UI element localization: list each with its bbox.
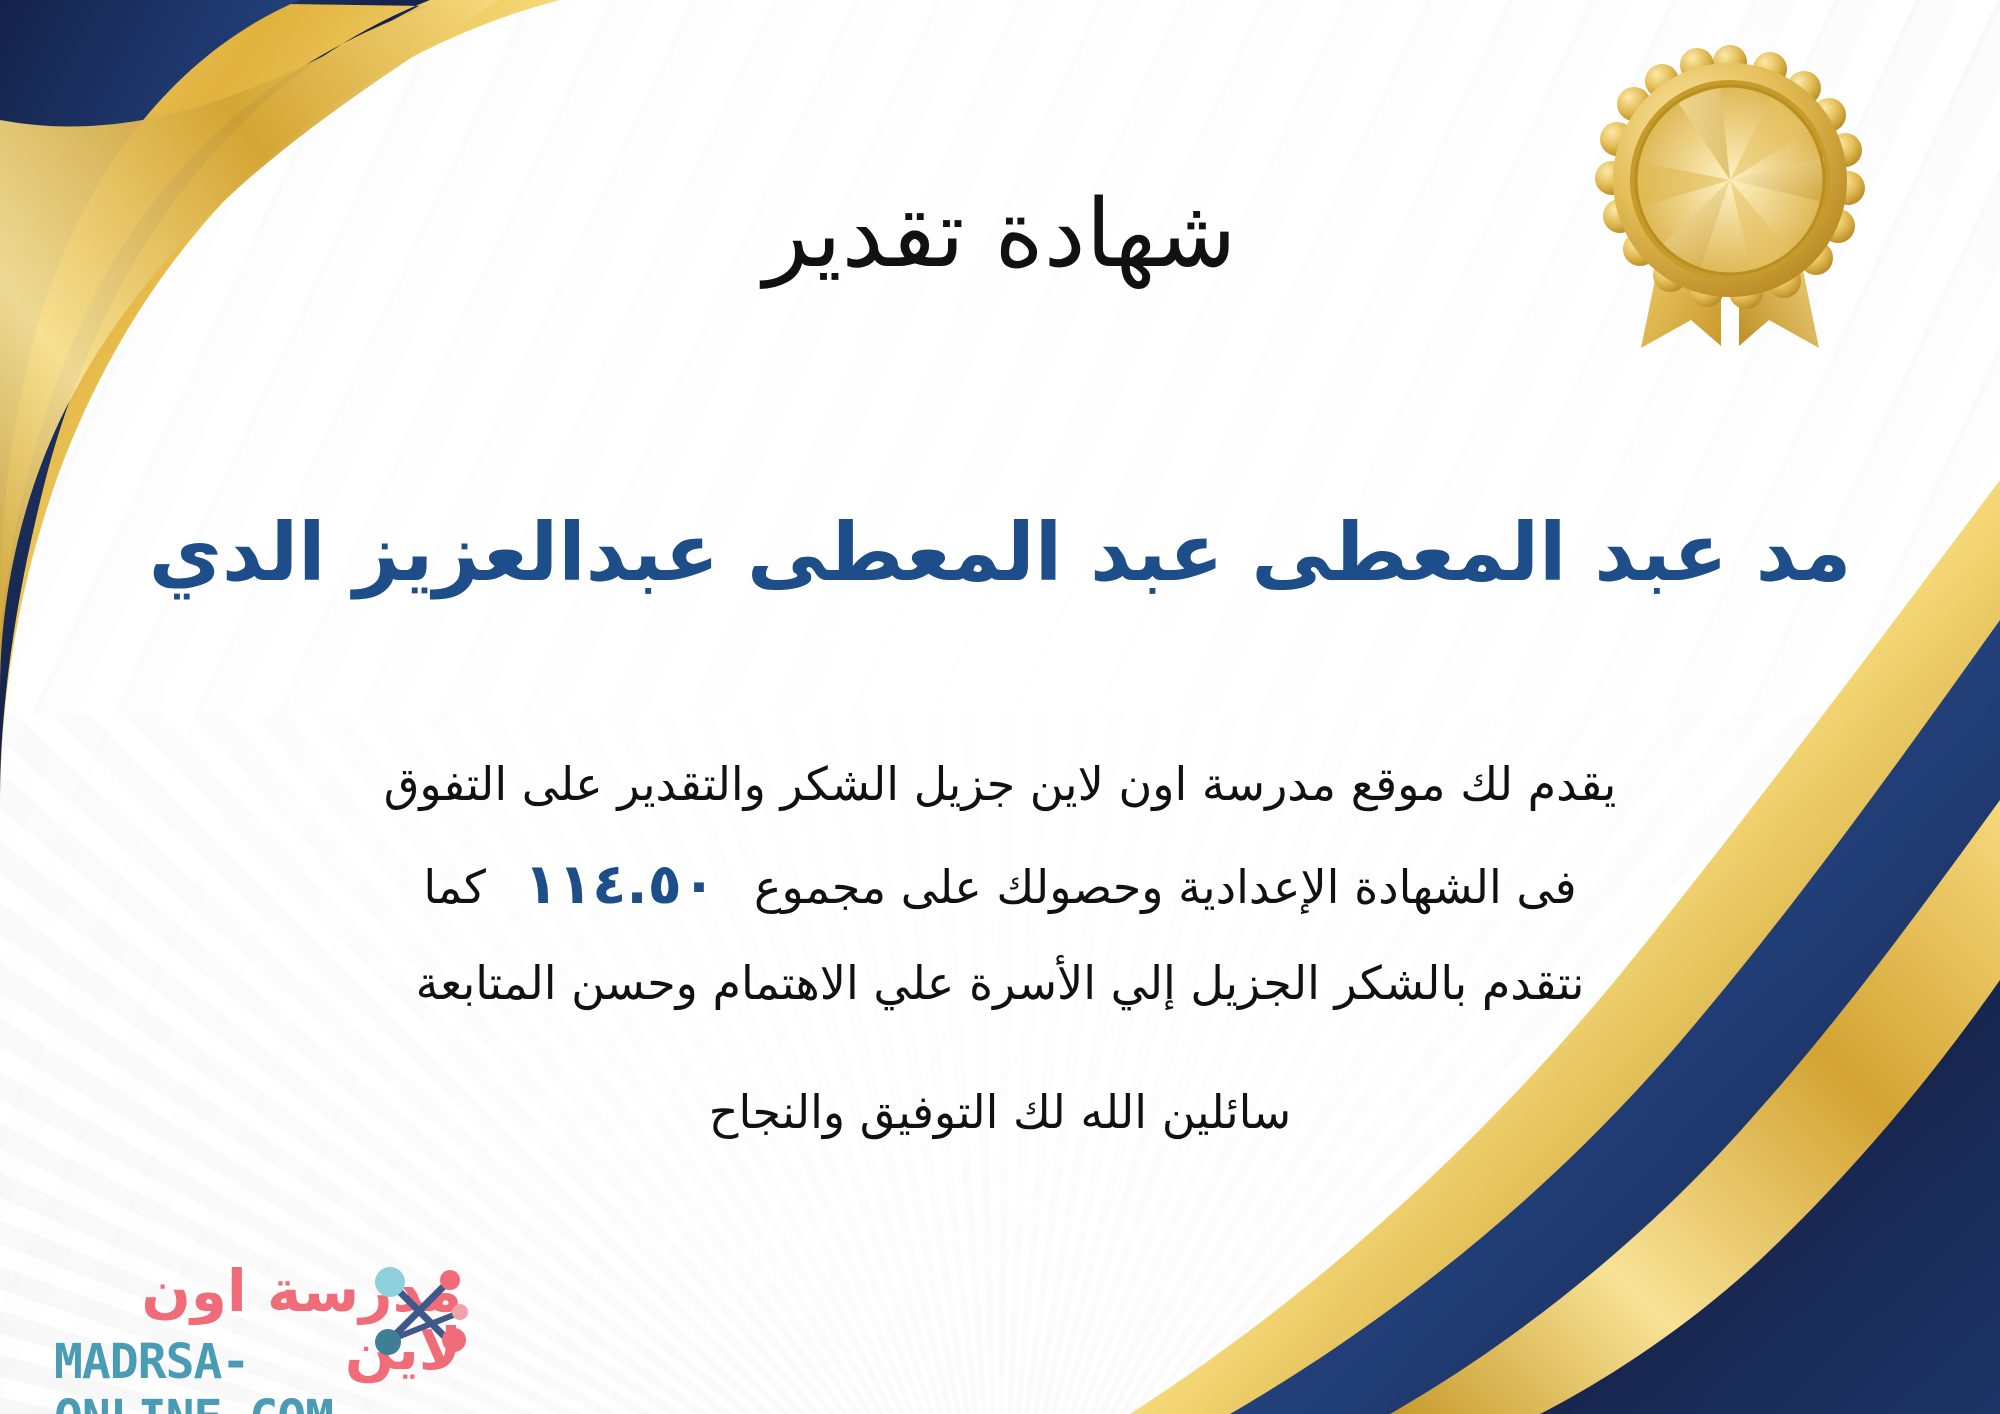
network-nodes-icon [364,1256,474,1366]
body-text: يقدم لك موقع مدرسة اون لاين جزيل الشكر و… [210,740,1790,1029]
body-line-1: يقدم لك موقع مدرسة اون لاين جزيل الشكر و… [210,740,1790,830]
certificate-page: شهادة تقدير مد عبد المعطى عبد المعطى عبد… [0,0,2000,1414]
brand-logo: مدرسة اون لاين MADRSA-ONLINE.COM [34,1250,504,1400]
body-line-2-prefix: فى الشهادة الإعدادية وحصولك على مجموع [754,860,1577,914]
body-line-3: نتقدم بالشكر الجزيل إلي الأسرة علي الاهت… [210,939,1790,1029]
body-line-2-suffix: كما [423,860,486,914]
page-title: شهادة تقدير [0,181,2000,289]
body-line-2: فى الشهادة الإعدادية وحصولك على مجموع١١٤… [210,830,1790,939]
grade-value: ١١٤.٥٠ [486,852,754,917]
recipient-name: مد عبد المعطى عبد المعطى عبدالعزيز الدي [0,505,2000,601]
closing-wish: سائلين الله لك التوفيق والنجاح [0,1085,2000,1139]
